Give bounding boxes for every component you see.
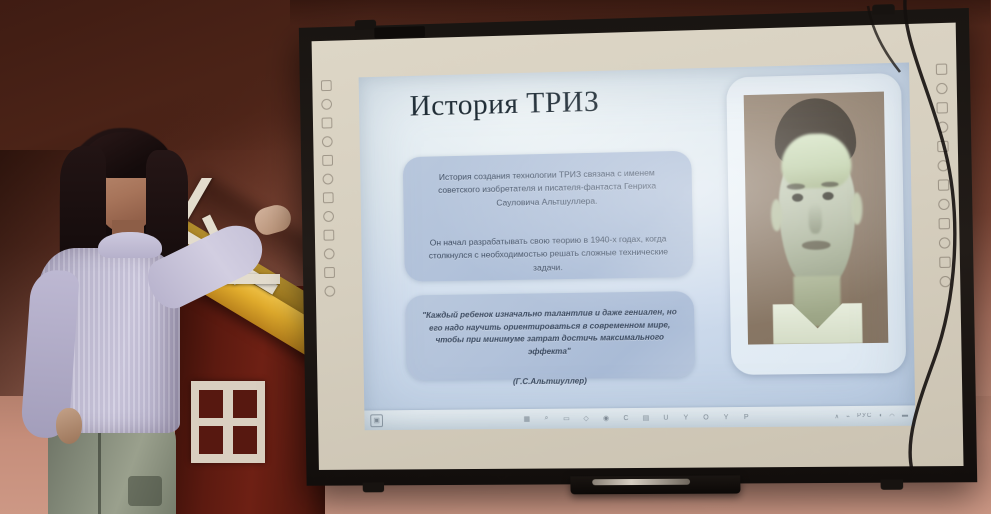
board-mount xyxy=(355,20,376,30)
board-button-icon[interactable] xyxy=(937,141,949,152)
board-mount xyxy=(872,4,895,15)
board-button-icon[interactable] xyxy=(322,136,333,147)
board-button-icon[interactable] xyxy=(936,83,948,94)
windows-start-icon[interactable]: ▦ xyxy=(521,413,532,424)
show-hidden-icons[interactable]: ∧ xyxy=(834,413,840,420)
taskbar-left-group[interactable]: ▣ xyxy=(364,414,383,427)
network-icon[interactable]: ⌁ xyxy=(846,413,851,420)
quote-text: "Каждый ребенок изначально талантлив и д… xyxy=(405,291,695,360)
presenter-left-hand xyxy=(56,408,82,444)
board-button-icon[interactable] xyxy=(940,276,952,287)
board-button-icon[interactable] xyxy=(323,211,334,222)
app-window-icon[interactable]: ▣ xyxy=(370,414,383,427)
sensor-bar xyxy=(374,26,425,38)
board-button-icon[interactable] xyxy=(321,99,332,110)
board-button-icon[interactable] xyxy=(936,63,948,74)
board-button-icon[interactable] xyxy=(324,286,335,297)
opera-icon[interactable]: O xyxy=(700,412,711,423)
powerpoint-icon[interactable]: P xyxy=(741,411,752,422)
board-button-icon[interactable] xyxy=(322,117,333,128)
board-button-icon[interactable] xyxy=(322,155,333,166)
projected-screen[interactable]: История ТРИЗ История создания технологии… xyxy=(359,62,916,430)
keyboard-layout[interactable]: РУС xyxy=(857,413,872,419)
board-button-icon[interactable] xyxy=(938,179,950,190)
search-icon[interactable]: ⌕ xyxy=(541,413,552,424)
battery-icon[interactable]: ▬ xyxy=(902,413,909,419)
side-function-buttons-right[interactable] xyxy=(932,49,956,425)
taskbar-tray[interactable]: ∧ ⌁ РУС ◖ ◠ ▬ xyxy=(834,412,909,420)
board-button-icon[interactable] xyxy=(323,230,334,241)
cargo-pocket xyxy=(128,476,162,506)
chat-icon[interactable]: ◇ xyxy=(581,413,592,424)
portrait-ear xyxy=(850,193,862,226)
board-button-icon[interactable] xyxy=(939,218,951,229)
board-button-icon[interactable] xyxy=(937,121,949,132)
yandex-browser-icon[interactable]: Y xyxy=(720,412,731,423)
board-button-icon[interactable] xyxy=(323,192,334,203)
screenshot-root: История ТРИЗ История создания технологии… xyxy=(0,0,991,514)
portrait-mouth xyxy=(802,241,830,250)
stylus-pen[interactable] xyxy=(592,479,690,486)
portrait-of-altshuller xyxy=(744,92,889,345)
board-button-icon[interactable] xyxy=(937,160,949,171)
info-paragraph-2: Он начал разрабатывать свою теорию в 194… xyxy=(404,217,694,277)
task-view-icon[interactable]: ▭ xyxy=(561,413,572,424)
whiteboard-frame: История ТРИЗ История создания технологии… xyxy=(312,23,964,470)
board-button-icon[interactable] xyxy=(323,174,334,185)
board-button-icon[interactable] xyxy=(939,237,951,248)
portrait-nose xyxy=(808,203,821,233)
taskbar-center-group[interactable]: ▦ ⌕ ▭ ◇ ◉ C ▤ U Y O Y P xyxy=(521,411,752,424)
portrait-ear xyxy=(771,199,783,232)
side-function-buttons-left[interactable] xyxy=(318,66,341,430)
info-paragraph-1: История создания технологии ТРИЗ связана… xyxy=(403,151,693,212)
presenter xyxy=(12,120,287,514)
quote-attribution: (Г.С.Альтшуллер) xyxy=(406,359,695,390)
interactive-whiteboard[interactable]: История ТРИЗ История создания технологии… xyxy=(299,8,977,486)
turtleneck-collar xyxy=(98,232,162,258)
edge-icon[interactable]: C xyxy=(620,413,631,424)
board-button-icon[interactable] xyxy=(936,102,948,113)
wifi-icon[interactable]: ◠ xyxy=(889,412,896,419)
board-button-icon[interactable] xyxy=(938,199,950,210)
pen-tray[interactable] xyxy=(570,475,740,494)
yandex-icon[interactable]: Y xyxy=(680,412,691,423)
slide-title: История ТРИЗ xyxy=(409,85,599,124)
slide-info-box: История создания технологии ТРИЗ связана… xyxy=(403,151,694,282)
volume-icon[interactable]: ◖ xyxy=(878,413,883,419)
windows-taskbar[interactable]: ▣ ▦ ⌕ ▭ ◇ ◉ C ▤ U Y O Y P xyxy=(364,405,915,430)
board-mount xyxy=(363,482,385,492)
board-button-icon[interactable] xyxy=(939,257,951,268)
jeans-seam xyxy=(98,432,101,514)
file-explorer-icon[interactable]: ▤ xyxy=(640,412,651,423)
board-button-icon[interactable] xyxy=(321,80,332,91)
media-player-icon[interactable]: U xyxy=(660,412,671,423)
slide-quote-box: "Каждый ребенок изначально талантлив и д… xyxy=(405,291,695,380)
board-button-icon[interactable] xyxy=(324,267,335,278)
browser-icon[interactable]: ◉ xyxy=(600,413,611,424)
board-mount xyxy=(881,480,904,490)
portrait-frame xyxy=(726,73,906,375)
board-button-icon[interactable] xyxy=(324,248,335,259)
portrait-eye xyxy=(791,194,802,202)
portrait-eye xyxy=(822,192,833,200)
